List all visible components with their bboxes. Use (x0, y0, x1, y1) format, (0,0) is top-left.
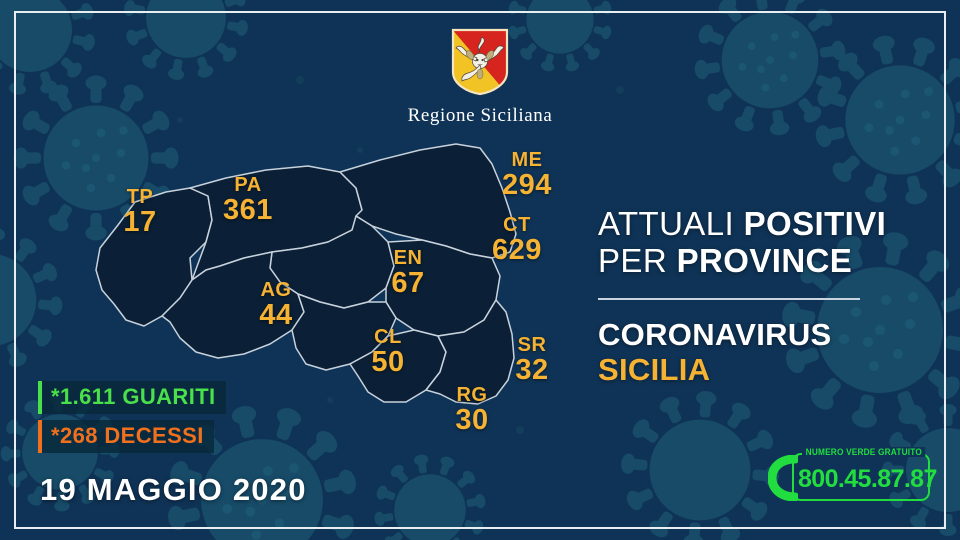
title-line-1: ATTUALI POSITIVI (598, 206, 928, 243)
province-label-sr: SR 32 (515, 336, 548, 384)
province-value-cl: 50 (371, 348, 404, 376)
province-label-en: EN 67 (391, 249, 424, 297)
province-label-tp: TP 17 (123, 188, 156, 236)
title-attuali: ATTUALI (598, 205, 744, 242)
province-code-ag: AG (259, 281, 292, 301)
province-label-cl: CL 50 (371, 328, 404, 376)
infographic-poster: Regione Siciliana (0, 0, 960, 540)
province-value-me: 294 (502, 171, 552, 199)
title-positivi: POSITIVI (744, 205, 887, 242)
province-code-cl: CL (371, 328, 404, 348)
regione-siciliana-shield-icon (451, 28, 509, 101)
title-province: PROVINCE (677, 242, 853, 279)
province-label-ct: CT 629 (492, 216, 542, 264)
phone-handset-icon (768, 455, 798, 501)
province-value-ag: 44 (259, 301, 292, 329)
province-label-me: ME 294 (502, 151, 552, 199)
province-label-ag: AG 44 (259, 281, 292, 329)
title-divider (598, 298, 860, 300)
title-line-2: PER PROVINCE (598, 243, 928, 280)
stat-badge-guariti: *1.611 GUARITI (38, 381, 226, 414)
hotline-label: NUMERO VERDE GRATUITO (802, 447, 926, 457)
province-code-ct: CT (492, 216, 542, 236)
province-code-sr: SR (515, 336, 548, 356)
date-label: 19 MAGGIO 2020 (40, 472, 307, 508)
province-code-tp: TP (123, 188, 156, 208)
stat-badge-decessi: *268 DECESSI (38, 420, 214, 453)
stats-block: *1.611 GUARITI *268 DECESSI (38, 381, 226, 459)
subtitle-coronavirus: CORONAVIRUS (598, 317, 928, 352)
trinacria-shield-svg (451, 28, 509, 96)
province-value-en: 67 (391, 269, 424, 297)
subtitle-sicilia: SICILIA (598, 352, 928, 387)
province-value-tp: 17 (123, 208, 156, 236)
title-per: PER (598, 242, 677, 279)
province-code-pa: PA (223, 176, 273, 196)
hotline-number[interactable]: 800.45.87.87 (798, 465, 937, 494)
header-emblem-block: Regione Siciliana (0, 28, 960, 127)
province-label-rg: RG 30 (455, 386, 488, 434)
province-value-rg: 30 (455, 406, 488, 434)
province-code-me: ME (502, 151, 552, 171)
province-value-ct: 629 (492, 236, 542, 264)
province-value-pa: 361 (223, 196, 273, 224)
title-block: ATTUALI POSITIVI PER PROVINCE CORONAVIRU… (598, 206, 928, 388)
province-value-sr: 32 (515, 356, 548, 384)
region-name-label: Regione Siciliana (0, 105, 960, 127)
province-code-rg: RG (455, 386, 488, 406)
province-label-pa: PA 361 (223, 176, 273, 224)
hotline-widget[interactable]: NUMERO VERDE GRATUITO 800.45.87.87 (768, 451, 930, 505)
province-code-en: EN (391, 249, 424, 269)
